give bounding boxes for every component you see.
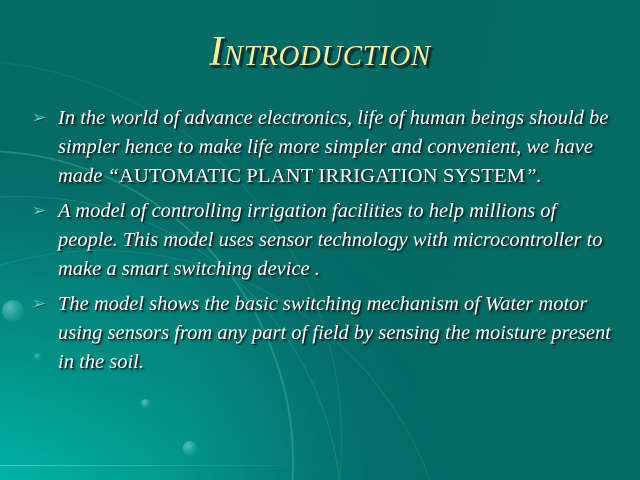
bullet-text: A model of controlling irrigation facili… bbox=[58, 197, 612, 284]
bullet-text: The model shows the basic switching mech… bbox=[58, 290, 612, 377]
bullet-text: In the world of advance electronics, lif… bbox=[58, 104, 612, 191]
presentation-slide: Introduction ➢ In the world of advance e… bbox=[0, 0, 640, 480]
bullet-item: ➢ In the world of advance electronics, l… bbox=[28, 104, 612, 191]
bullet-arrow-icon: ➢ bbox=[32, 109, 50, 127]
bullet-text-segment: ”. bbox=[525, 165, 542, 187]
bullet-list: ➢ In the world of advance electronics, l… bbox=[28, 104, 612, 383]
bullet-arrow-icon: ➢ bbox=[32, 202, 50, 220]
slide-title: Introduction bbox=[0, 28, 640, 76]
bullet-arrow-icon: ➢ bbox=[32, 295, 50, 313]
bullet-item: ➢ The model shows the basic switching me… bbox=[28, 290, 612, 377]
slide-content: Introduction ➢ In the world of advance e… bbox=[0, 0, 640, 480]
bullet-text-emphasis: AUTOMATIC PLANT IRRIGATION SYSTEM bbox=[119, 165, 525, 187]
bullet-item: ➢ A model of controlling irrigation faci… bbox=[28, 197, 612, 284]
